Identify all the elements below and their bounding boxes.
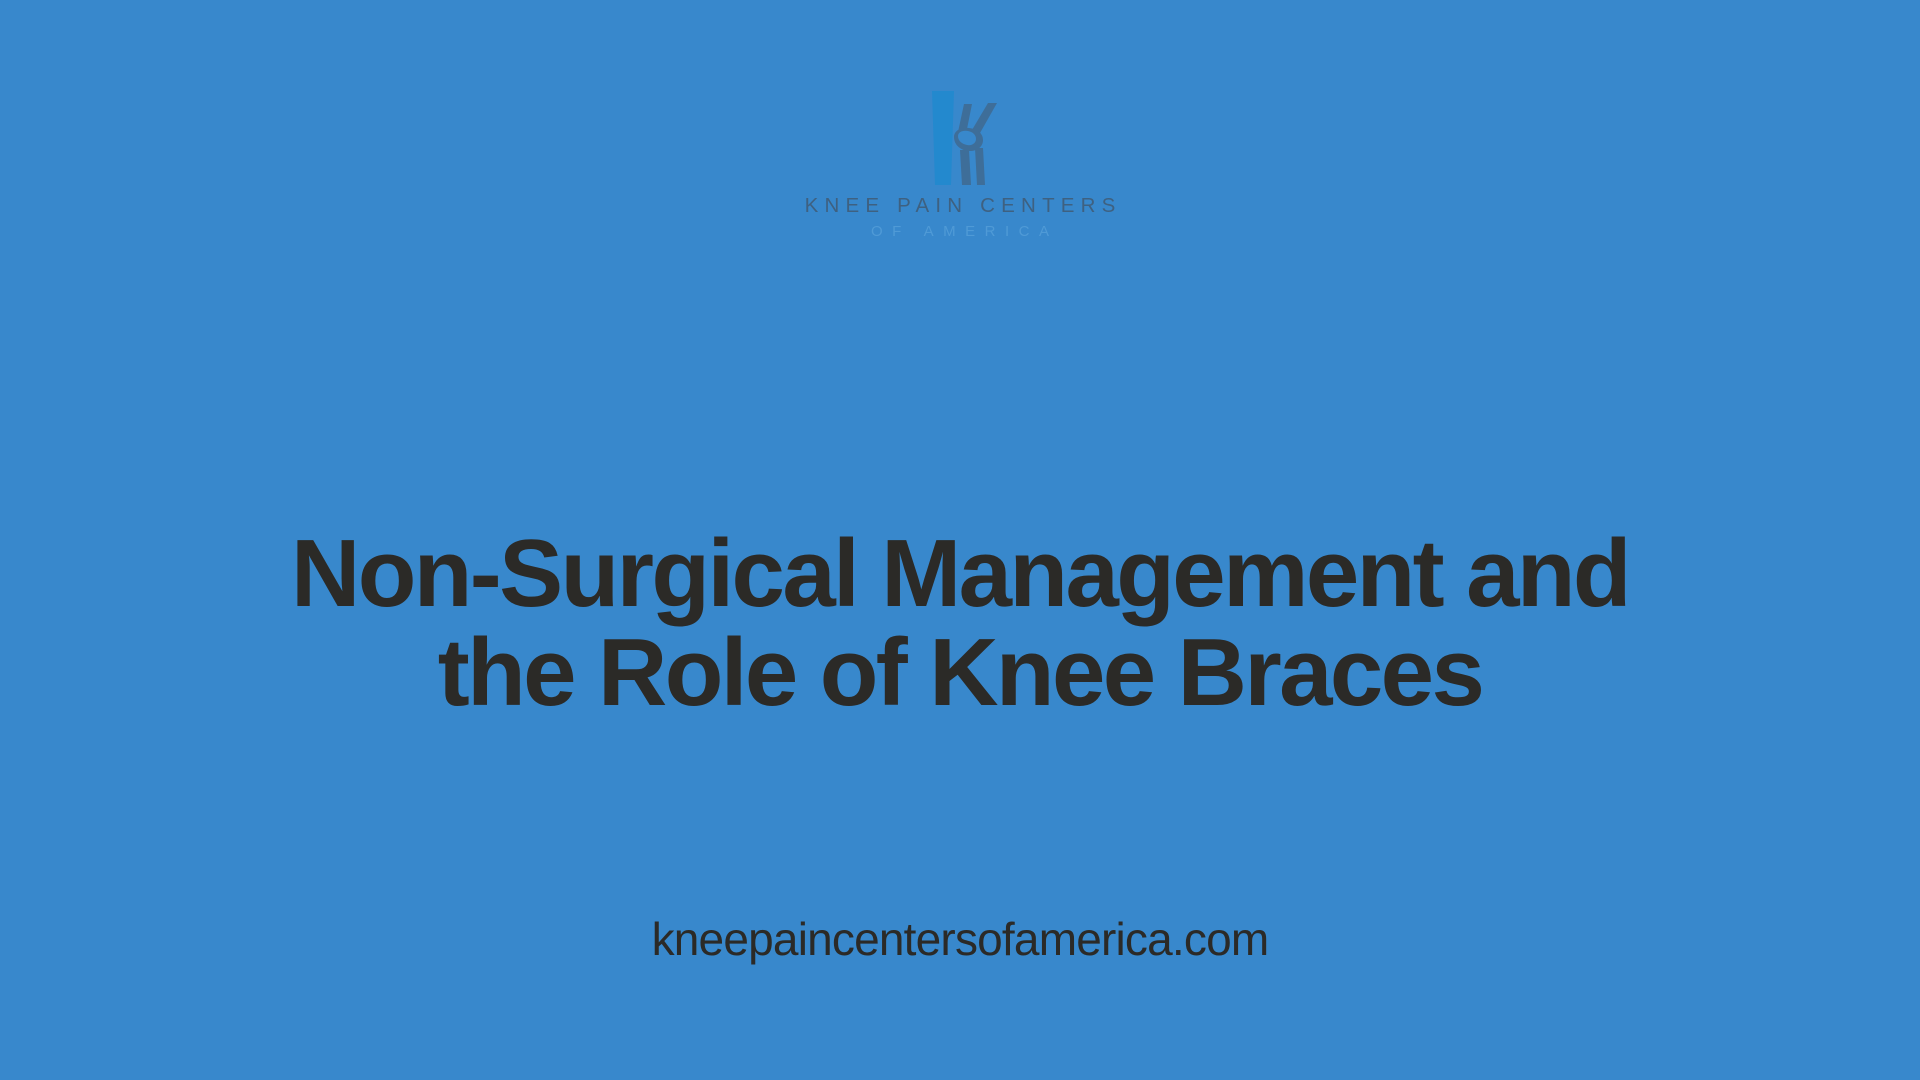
logo-subwordmark: OF AMERICA xyxy=(861,224,1058,239)
page-title-line-1: Non-Surgical Management and xyxy=(0,526,1920,622)
page-title-line-2: the Role of Knee Braces xyxy=(0,625,1920,721)
knee-joint-k-logo-icon xyxy=(904,90,1016,186)
footer-website-url: kneepaincentersofamerica.com xyxy=(0,916,1920,962)
page-title: Non-Surgical Management and the Role of … xyxy=(0,526,1920,721)
title-slide: KNEE PAIN CENTERS OF AMERICA Non-Surgica… xyxy=(0,0,1920,1080)
logo-wordmark: KNEE PAIN CENTERS xyxy=(798,196,1121,217)
logo-lockup: KNEE PAIN CENTERS OF AMERICA xyxy=(0,90,1920,239)
